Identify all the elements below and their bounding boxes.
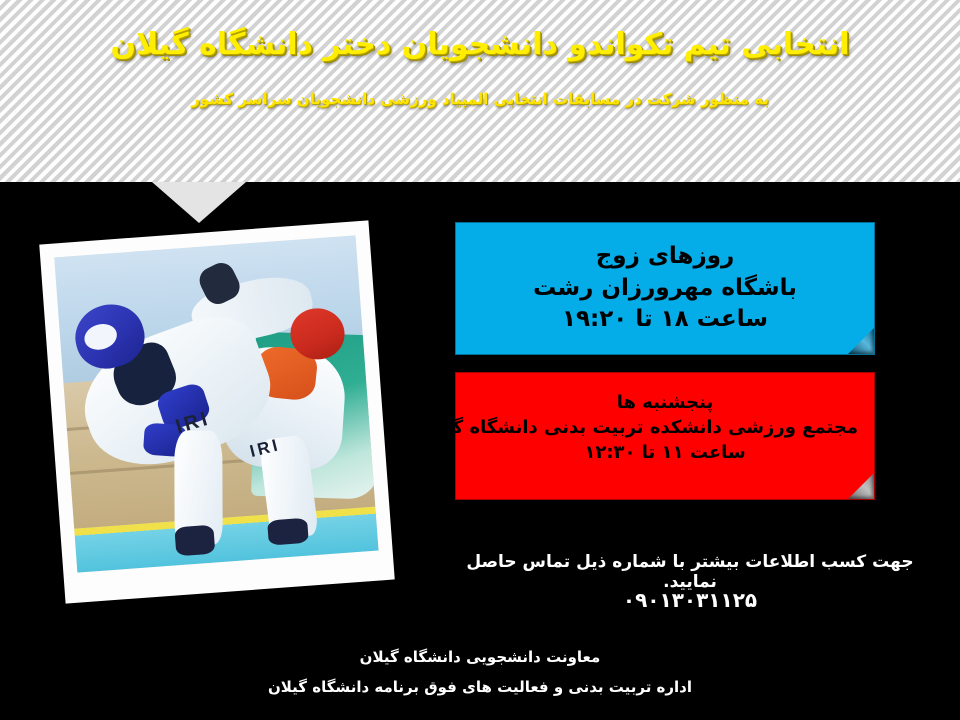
card-line: مجتمع ورزشی دانشکده تربیت بدنی دانشگاه گ… (472, 416, 858, 441)
poster-canvas: انتخابی تیم تکواندو دانشجویان دختر دانشگ… (0, 0, 960, 720)
card-line: روزهای زوج (472, 241, 858, 273)
card-line: باشگاه مهرورزان رشت (472, 273, 858, 305)
poster-header: انتخابی تیم تکواندو دانشجویان دختر دانشگ… (0, 0, 960, 182)
footer-department: اداره تربیت بدنی و فعالیت های فوق برنامه… (0, 678, 960, 696)
card-line: ساعت ۱۱ تا ۱۲:۳۰ (472, 441, 858, 466)
speech-bubble-tail-icon (152, 182, 246, 223)
card-line: پنجشنبه ها (472, 391, 858, 416)
taekwondo-photo: IRI IRI (54, 235, 378, 572)
schedule-card-even-days: روزهای زوج باشگاه مهرورزان رشت ساعت ۱۸ ت… (455, 222, 875, 355)
athlete-red-foot (267, 518, 308, 546)
contact-note: جهت کسب اطلاعات بیشتر با شماره ذیل تماس … (440, 552, 940, 592)
page-curl-icon (848, 473, 874, 499)
schedule-card-thursdays: پنجشنبه ها مجتمع ورزشی دانشکده تربیت بدن… (455, 372, 875, 500)
photo-frame: IRI IRI (39, 220, 394, 603)
page-title: انتخابی تیم تکواندو دانشجویان دختر دانشگ… (111, 26, 850, 64)
footer-organization: معاونت دانشجویی دانشگاه گیلان (0, 648, 960, 666)
contact-phone-number[interactable]: ۰۹۰۱۳۰۳۱۱۲۵ (440, 588, 940, 612)
page-subtitle: به منظور شرکت در مسابقات انتخابی المپیاد… (191, 90, 769, 108)
card-line: ساعت ۱۸ تا ۱۹:۲۰ (472, 304, 858, 336)
header-content: انتخابی تیم تکواندو دانشجویان دختر دانشگ… (0, 0, 960, 182)
athlete-blue-foot (174, 525, 215, 556)
